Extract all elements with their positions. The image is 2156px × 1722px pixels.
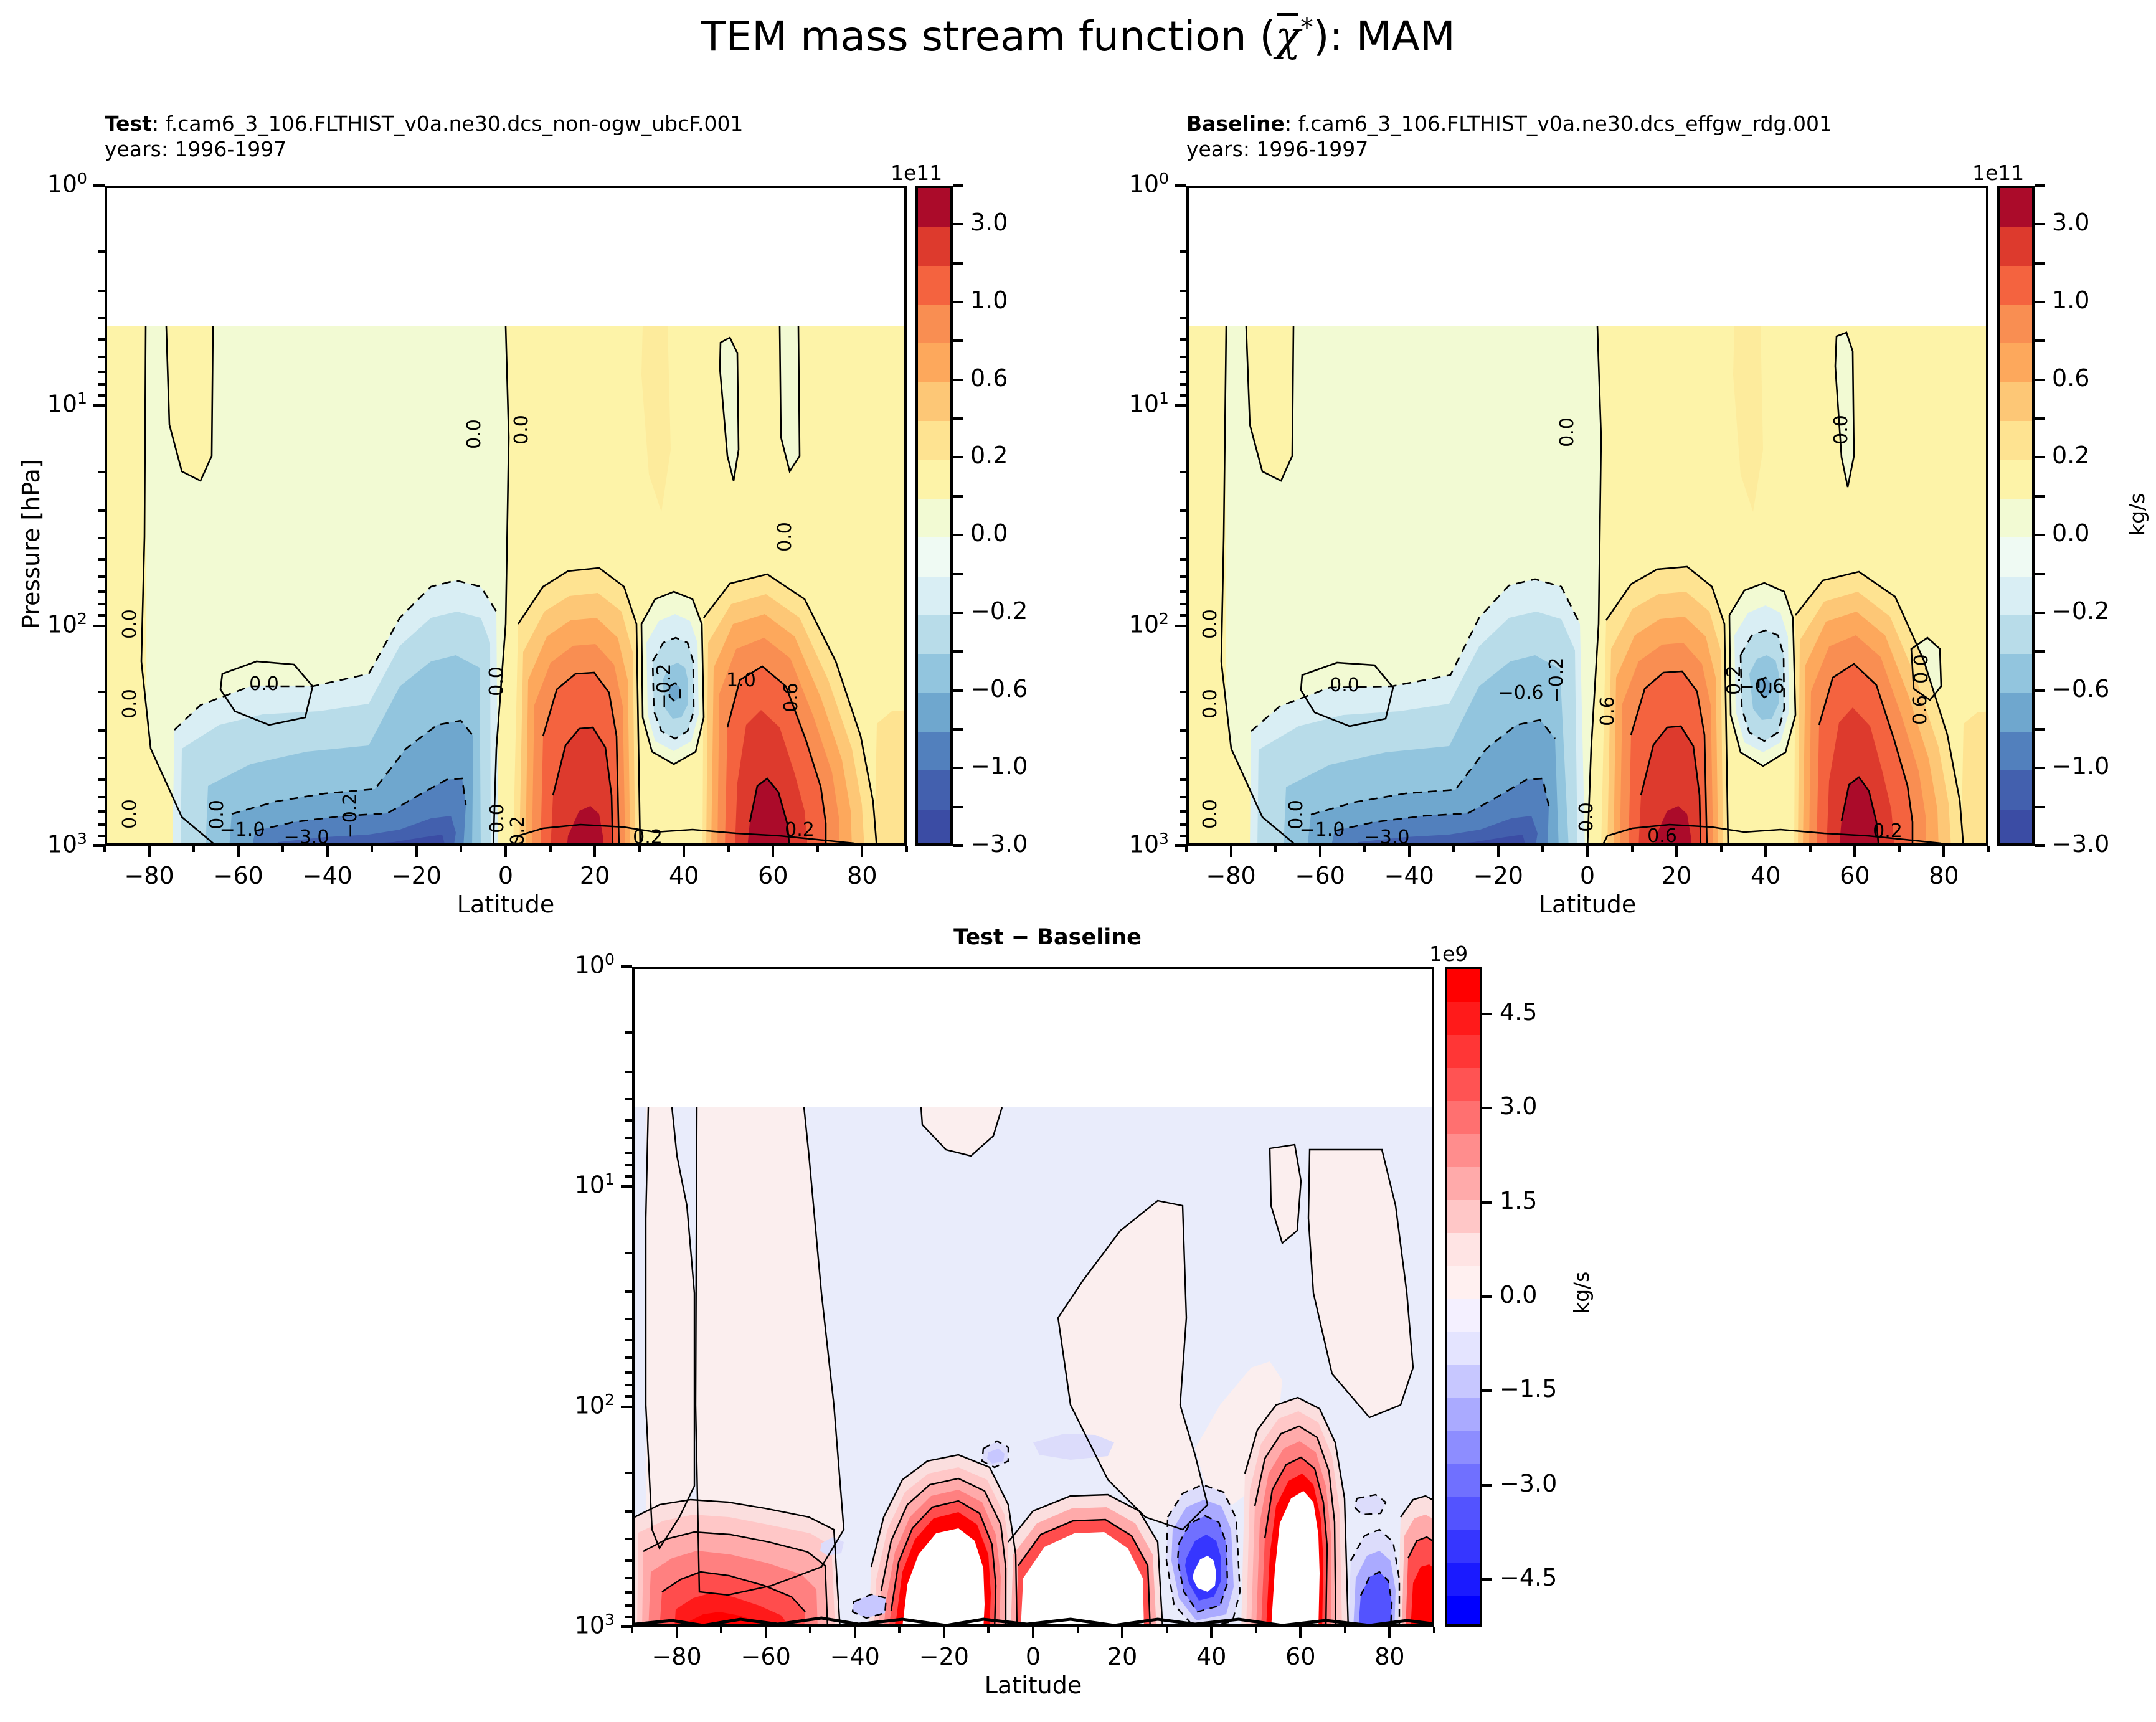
x-tick (772, 846, 774, 857)
y-minor-tick (625, 1356, 632, 1359)
colorbar-tick (953, 650, 963, 653)
contour-label: 0.0 (1199, 609, 1221, 639)
contour-label: 0.0 (511, 415, 532, 445)
panel-baseline-label: Baseline (1186, 111, 1285, 136)
y-tick (93, 625, 105, 627)
y-minor-tick (625, 1339, 632, 1341)
colorbar-band (918, 305, 950, 344)
y-minor-tick (625, 1031, 632, 1034)
colorbar-tick (953, 456, 963, 458)
y-minor-tick (98, 471, 105, 473)
colorbar-band (2000, 266, 2032, 305)
colorbar-band (918, 770, 950, 810)
y-minor-tick (1180, 590, 1186, 593)
colorbar-tick-label: 0.0 (1500, 1283, 1537, 1307)
x-tick (326, 846, 329, 857)
panel-baseline-colorbar-exponent: 1e11 (1972, 161, 2024, 185)
figure-title-prefix: TEM mass stream function ( (701, 12, 1275, 60)
contour-label: 0.0 (1576, 802, 1597, 832)
x-tick-label: 60 (1257, 1643, 1344, 1670)
colorbar-tick (1482, 1389, 1492, 1392)
y-minor-tick (625, 1384, 632, 1386)
x-minor-tick (1541, 846, 1544, 852)
y-minor-tick (98, 810, 105, 813)
y-minor-tick (625, 1371, 632, 1374)
colorbar-band (918, 382, 950, 422)
x-tick (415, 846, 418, 857)
contour-label: 0.0 (1199, 799, 1221, 829)
y-minor-tick (98, 338, 105, 341)
y-minor-tick (625, 1538, 632, 1540)
x-tick (943, 1627, 945, 1638)
colorbar-band (1447, 969, 1480, 1003)
colorbar-tick (2035, 379, 2045, 381)
x-tick-label: −40 (284, 862, 371, 889)
y-minor-tick (625, 1290, 632, 1293)
x-minor-tick (720, 1627, 722, 1633)
x-minor-tick (638, 846, 641, 852)
panel-difference-colorbar-exponent: 1e9 (1429, 942, 1468, 966)
colorbar-tick-label: −1.0 (970, 754, 1028, 778)
colorbar-tick-label: −0.6 (970, 677, 1028, 701)
colorbar-tick (1482, 1484, 1492, 1487)
colorbar-tick (953, 495, 963, 498)
y-tick (1175, 844, 1186, 847)
y-tick (621, 1406, 632, 1408)
colorbar-band (2000, 537, 2032, 577)
colorbar-tick-label: 4.5 (1500, 1000, 1537, 1024)
y-minor-tick (1180, 317, 1186, 319)
y-minor-tick (98, 575, 105, 578)
x-tick-label: 0 (1544, 862, 1631, 889)
panel-baseline-xlabel: Latitude (1186, 891, 1988, 918)
panel-difference-colorbar[interactable] (1445, 967, 1482, 1627)
panel-difference-colorbar-unit: kg/s (1569, 1272, 1594, 1314)
x-tick-label: 0 (462, 862, 549, 889)
y-minor-tick (1180, 371, 1186, 373)
colorbar-tick (953, 728, 963, 731)
colorbar-tick (953, 806, 963, 808)
y-minor-tick (625, 1559, 632, 1562)
colorbar-band (918, 460, 950, 499)
x-tick (861, 846, 863, 857)
colorbar-tick-label: −0.2 (2052, 599, 2109, 623)
y-tick-label: 101 (521, 1170, 615, 1199)
colorbar-band (2000, 732, 2032, 771)
y-minor-tick (98, 371, 105, 373)
colorbar-band (1447, 1068, 1480, 1102)
colorbar-tick (2035, 417, 2045, 420)
panel-test-plot-area: 0.0 0.0 0.0 0.0 0.0 0.0 0.0 0.0 0.0 −0.2… (105, 186, 907, 846)
y-minor-tick (625, 1510, 632, 1513)
y-minor-tick (1180, 796, 1186, 798)
colorbar-tick-label: −1.5 (1500, 1377, 1557, 1401)
figure-title: TEM mass stream function (χ*): MAM (0, 12, 2156, 60)
colorbar-tick (2035, 573, 2045, 575)
x-minor-tick (1987, 846, 1990, 852)
colorbar-tick (953, 262, 963, 265)
x-tick (1942, 846, 1945, 857)
x-minor-tick (1166, 1627, 1168, 1633)
x-tick-label: −60 (1277, 862, 1364, 889)
colorbar-band (1447, 1233, 1480, 1267)
contour-label: 0.2 (633, 826, 663, 846)
colorbar-tick-label: −1.0 (2052, 754, 2109, 778)
y-minor-tick (1180, 757, 1186, 759)
contour-label: −1.0 (220, 819, 265, 841)
colorbar-band (1447, 1101, 1480, 1135)
y-tick (1175, 404, 1186, 407)
x-minor-tick (1344, 1627, 1346, 1633)
panel-difference-xlabel: Latitude (632, 1672, 1434, 1699)
x-tick-label: 80 (818, 862, 905, 889)
y-tick-label: 103 (1076, 830, 1169, 858)
x-tick (1388, 1627, 1391, 1638)
colorbar-tick (953, 689, 963, 692)
y-minor-tick (98, 835, 105, 837)
y-minor-tick (98, 590, 105, 593)
y-minor-tick (625, 1577, 632, 1579)
y-tick (93, 184, 105, 187)
colorbar-band (2000, 305, 2032, 344)
y-tick (93, 404, 105, 407)
y-minor-tick (1180, 338, 1186, 341)
x-tick-label: −40 (1366, 862, 1453, 889)
colorbar-tick-label: −3.0 (970, 832, 1028, 856)
y-tick (93, 844, 105, 847)
contour-label: 0.6 (1597, 696, 1619, 726)
y-minor-tick (625, 1152, 632, 1154)
x-minor-tick (727, 846, 730, 852)
y-minor-tick (1180, 394, 1186, 397)
y-minor-tick (98, 394, 105, 397)
chi-symbol: χ (1275, 12, 1300, 60)
colorbar-tick (953, 844, 963, 847)
y-tick-label: 103 (0, 830, 87, 858)
colorbar-band (2000, 615, 2032, 655)
colorbar-tick (1482, 1107, 1492, 1109)
colorbar-tick (2035, 650, 2045, 653)
x-tick-label: 0 (990, 1643, 1077, 1670)
contour-label: 0.0 (119, 689, 141, 719)
y-minor-tick (625, 1318, 632, 1320)
colorbar-band (918, 615, 950, 655)
y-minor-tick (625, 1175, 632, 1178)
x-tick (148, 846, 151, 857)
colorbar-band (918, 343, 950, 382)
colorbar-tick (2035, 184, 2045, 187)
colorbar-band (1447, 1134, 1480, 1168)
x-tick-label: −80 (106, 862, 193, 889)
colorbar-band (1447, 1365, 1480, 1399)
x-tick-label: −60 (722, 1643, 810, 1670)
x-minor-tick (1274, 846, 1277, 852)
y-minor-tick (98, 317, 105, 319)
colorbar-band (1447, 1200, 1480, 1234)
colorbar-band (1447, 1596, 1480, 1627)
colorbar-tick (1482, 1578, 1492, 1581)
colorbar-band (2000, 227, 2032, 266)
panel-test-colorbar[interactable] (915, 186, 953, 846)
y-minor-tick (1180, 603, 1186, 605)
contour-label: −1.0 (1300, 819, 1345, 841)
y-minor-tick (98, 250, 105, 253)
x-minor-tick (460, 846, 462, 852)
x-tick (854, 1627, 856, 1638)
x-minor-tick (1720, 846, 1723, 852)
y-tick-label: 103 (521, 1611, 615, 1639)
y-minor-tick (1180, 383, 1186, 386)
colorbar-band (918, 537, 950, 577)
colorbar-band (2000, 499, 2032, 538)
y-tick (1175, 184, 1186, 187)
colorbar-tick-label: −4.5 (1500, 1566, 1557, 1589)
x-tick (1230, 846, 1232, 857)
colorbar-tick (953, 534, 963, 536)
x-minor-tick (1255, 1627, 1257, 1633)
colorbar-band (2000, 810, 2032, 846)
colorbar-band (918, 188, 950, 227)
colorbar-band (1447, 1530, 1480, 1564)
colorbar-tick (2035, 728, 2045, 731)
y-tick-label: 100 (0, 169, 87, 198)
panel-test-case: f.cam6_3_106.FLTHIST_v0a.ne30.dcs_non-og… (166, 111, 744, 136)
colorbar-tick (2035, 223, 2045, 225)
contour-label: 0.0 (119, 799, 141, 829)
colorbar-tick (953, 417, 963, 420)
y-tick-label: 102 (521, 1391, 615, 1419)
y-minor-tick (98, 509, 105, 512)
contour-label: −0.6 (1739, 676, 1785, 698)
y-minor-tick (98, 691, 105, 693)
x-minor-tick (192, 846, 195, 852)
y-tick-label: 102 (1076, 610, 1169, 638)
x-minor-tick (1077, 1627, 1079, 1633)
colorbar-tick (953, 301, 963, 303)
contour-label: 0.0 (119, 609, 141, 639)
x-minor-tick (1452, 846, 1455, 852)
panel-test-years: years: 1996-1997 (105, 136, 743, 162)
x-tick-label: 60 (729, 862, 816, 889)
colorbar-band (1447, 1266, 1480, 1300)
panel-test-contour-svg: 0.0 0.0 0.0 0.0 0.0 0.0 0.0 0.0 0.0 −0.2… (107, 188, 907, 846)
panel-baseline-plot-area: 0.0 0.0 0.0 0.0 0.0 0.0 0.0 0.0 0.0 −0.6… (1186, 186, 1988, 846)
colorbar-band (2000, 188, 2032, 227)
colorbar-tick (953, 379, 963, 381)
colorbar-band (1447, 1299, 1480, 1333)
colorbar-band (2000, 770, 2032, 810)
x-minor-tick (809, 1627, 811, 1633)
colorbar-tick (2035, 339, 2045, 342)
x-tick (1408, 846, 1411, 857)
colorbar-band (1447, 1398, 1480, 1432)
y-tick (621, 1185, 632, 1188)
panel-test-sep: : (152, 111, 159, 136)
colorbar-band (2000, 460, 2032, 499)
x-minor-tick (1631, 846, 1634, 852)
colorbar-tick-label: 0.6 (2052, 366, 2089, 390)
y-minor-tick (1180, 290, 1186, 292)
y-minor-tick (1180, 537, 1186, 539)
colorbar-tick-label: −3.0 (2052, 832, 2109, 856)
y-minor-tick (1180, 471, 1186, 473)
colorbar-tick-label: 1.0 (2052, 288, 2089, 312)
contour-label: 0.0 (1556, 417, 1578, 447)
x-minor-tick (898, 1627, 901, 1633)
figure-title-suffix: ): MAM (1313, 12, 1455, 60)
y-minor-tick (98, 778, 105, 781)
x-tick (1299, 1627, 1302, 1638)
y-minor-tick (98, 823, 105, 826)
y-minor-tick (1180, 823, 1186, 826)
colorbar-tick (2035, 806, 2045, 808)
y-minor-tick (1180, 835, 1186, 837)
colorbar-band (1447, 1035, 1480, 1069)
x-tick (1853, 846, 1856, 857)
y-minor-tick (1180, 356, 1186, 358)
colorbar-tick-label: 1.5 (1500, 1189, 1537, 1213)
colorbar-tick (2035, 495, 2045, 498)
panel-difference-plot-area (632, 967, 1434, 1627)
y-minor-tick (625, 1071, 632, 1073)
y-tick-label: 100 (1076, 169, 1169, 198)
x-tick-label: 60 (1811, 862, 1898, 889)
y-tick-label: 101 (0, 389, 87, 418)
x-tick (593, 846, 596, 857)
colorbar-tick-label: 1.0 (970, 288, 1008, 312)
x-tick (683, 846, 685, 857)
y-tick (621, 965, 632, 968)
panel-baseline-contour-svg: 0.0 0.0 0.0 0.0 0.0 0.0 0.0 0.0 0.0 −0.6… (1189, 188, 1988, 846)
contour-label: 0.0 (463, 419, 485, 449)
colorbar-tick-label: −0.2 (970, 599, 1028, 623)
colorbar-tick-label: 0.0 (970, 521, 1008, 545)
panel-difference-contour-svg (635, 969, 1434, 1627)
colorbar-band (1447, 1167, 1480, 1201)
x-tick-label: 20 (1633, 862, 1720, 889)
contour-label: 0.6 (1647, 825, 1677, 846)
panel-test-colorbar-exponent: 1e11 (891, 161, 942, 185)
contour-label: 0.0 (1330, 674, 1359, 696)
x-minor-tick (1433, 1627, 1435, 1633)
y-minor-tick (1180, 509, 1186, 512)
x-tick (1032, 1627, 1034, 1638)
colorbar-tick-label: 0.2 (2052, 443, 2089, 467)
colorbar-band (1447, 1464, 1480, 1498)
y-minor-tick (625, 1604, 632, 1607)
x-tick-label: −80 (633, 1643, 721, 1670)
colorbar-tick-label: 0.6 (970, 366, 1008, 390)
contour-label: 0.0 (486, 666, 508, 696)
x-tick-label: 40 (1168, 1643, 1255, 1670)
x-tick-label: −40 (811, 1643, 899, 1670)
contour-label: 0.6 (780, 683, 802, 712)
y-minor-tick (1180, 250, 1186, 253)
x-tick-label: 20 (1079, 1643, 1166, 1670)
x-tick (765, 1627, 767, 1638)
colorbar-band (2000, 421, 2032, 460)
colorbar-band (918, 227, 950, 266)
colorbar-tick (953, 184, 963, 187)
panel-baseline-case: f.cam6_3_106.FLTHIST_v0a.ne30.dcs_effgw_… (1298, 111, 1832, 136)
x-tick (1210, 1627, 1213, 1638)
colorbar-band (1447, 1002, 1480, 1036)
panel-baseline-sep: : (1285, 111, 1292, 136)
x-tick-label: 40 (640, 862, 727, 889)
y-minor-tick (98, 558, 105, 561)
x-tick-label: 80 (1900, 862, 1987, 889)
x-minor-tick (1809, 846, 1812, 852)
panel-baseline-title: Baseline: f.cam6_3_106.FLTHIST_v0a.ne30.… (1186, 111, 1832, 163)
y-minor-tick (98, 729, 105, 732)
colorbar-tick-label: 0.2 (970, 443, 1008, 467)
y-minor-tick (98, 757, 105, 759)
y-minor-tick (98, 290, 105, 292)
panel-baseline-colorbar[interactable] (1997, 186, 2035, 846)
x-tick (1121, 1627, 1123, 1638)
colorbar-tick (2035, 767, 2045, 769)
panel-baseline-colorbar-unit: kg/s (2125, 493, 2149, 536)
x-tick-label: −80 (1188, 862, 1275, 889)
y-minor-tick (98, 356, 105, 358)
contour-label: 0.2 (1873, 820, 1903, 842)
x-minor-tick (987, 1627, 990, 1633)
y-minor-tick (625, 1395, 632, 1398)
y-minor-tick (1180, 558, 1186, 561)
contour-label: 0.6 (1909, 695, 1931, 725)
x-tick-label: −60 (195, 862, 282, 889)
colorbar-band (918, 654, 950, 693)
colorbar-band (918, 732, 950, 771)
panel-difference-title: Test − Baseline (645, 924, 1450, 952)
colorbar-band (2000, 343, 2032, 382)
colorbar-tick (953, 612, 963, 614)
y-minor-tick (625, 1164, 632, 1166)
x-tick-label: −20 (901, 1643, 988, 1670)
colorbar-band (918, 266, 950, 305)
x-minor-tick (1363, 846, 1366, 852)
contour-label: 0.0 (1830, 415, 1852, 445)
colorbar-tick (2035, 689, 2045, 692)
colorbar-tick-label: 3.0 (1500, 1094, 1537, 1118)
panel-test-label: Test (105, 111, 152, 136)
colorbar-band (918, 499, 950, 538)
x-tick-label: 20 (551, 862, 638, 889)
colorbar-tick (2035, 301, 2045, 303)
x-tick-label: −20 (1455, 862, 1542, 889)
contour-label: −0.6 (1498, 682, 1544, 704)
colorbar-band (918, 421, 950, 460)
y-minor-tick (98, 603, 105, 605)
y-tick-label: 100 (521, 950, 615, 979)
y-minor-tick (1180, 729, 1186, 732)
y-minor-tick (625, 1591, 632, 1594)
y-minor-tick (625, 1616, 632, 1618)
y-minor-tick (98, 383, 105, 386)
x-tick (1497, 846, 1500, 857)
contour-label: −0.2 (339, 793, 361, 839)
contour-label: 0.0 (774, 522, 796, 552)
colorbar-tick-label: 3.0 (2052, 211, 2089, 234)
colorbar-tick (953, 223, 963, 225)
y-minor-tick (1180, 614, 1186, 617)
colorbar-band (2000, 654, 2032, 693)
colorbar-tick (1482, 1295, 1492, 1298)
panel-baseline-years: years: 1996-1997 (1186, 136, 1832, 162)
x-minor-tick (905, 846, 908, 852)
contour-label: −3.0 (284, 826, 329, 846)
colorbar-tick (2035, 612, 2045, 614)
